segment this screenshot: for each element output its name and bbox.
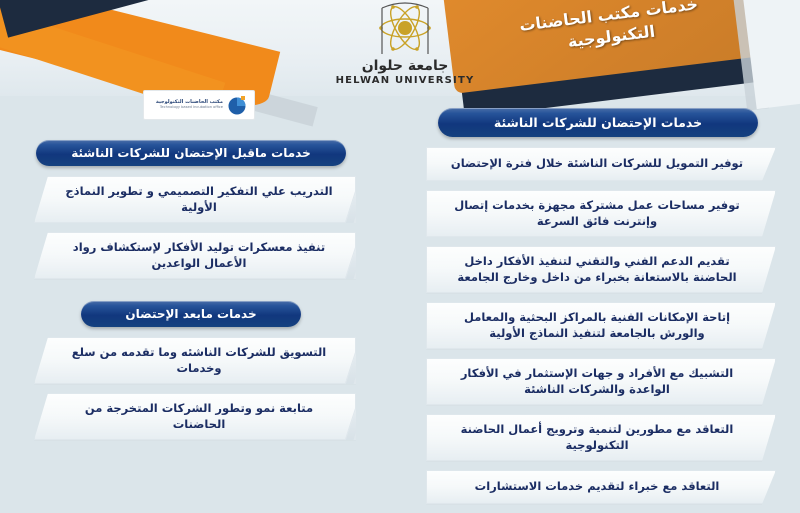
incubation-office-logo: مكتب الحاضنات التكنولوجية Technology bas…	[143, 90, 255, 120]
service-card[interactable]: تنفيذ معسكرات توليد الأفكار لإستكشاف روا…	[34, 232, 356, 279]
service-card[interactable]: التسويق للشركات الناشئه وما تقدمه من سلع…	[34, 337, 356, 384]
right-column: خدمات الإحتضان للشركات الناشئة توفير الت…	[420, 108, 776, 513]
service-card[interactable]: التعاقد مع خبراء لتقديم خدمات الاستشارات	[426, 470, 776, 504]
section-header-post-incubation[interactable]: خدمات مابعد الإحتضان	[81, 301, 301, 327]
incubation-office-logo-text: مكتب الحاضنات التكنولوجية Technology bas…	[149, 100, 223, 109]
university-name-en: HELWAN UNIVERSITY	[330, 75, 480, 86]
service-card[interactable]: متابعة نمو وتطور الشركات المتخرجة من الح…	[34, 393, 356, 440]
university-name-ar: جامعة حلوان	[330, 58, 480, 74]
column-spacer	[26, 288, 356, 301]
left-column: خدمات ماقبل الإحتضان للشركات الناشئة الت…	[26, 140, 356, 449]
helwan-university-logo: جامعة حلوان HELWAN UNIVERSITY	[330, 2, 480, 94]
poster-canvas: خدمات مكتب الحاضنات التكنولوجية جامعة حل…	[0, 0, 800, 450]
incubation-office-name-en: Technology based incubation office	[149, 106, 223, 110]
service-card[interactable]: التدريب علي التفكير التصميمي و تطوير الن…	[34, 176, 356, 223]
service-card[interactable]: تقديم الدعم الفني والتقني لتنفيذ الأفكار…	[426, 246, 776, 293]
service-card[interactable]: التعاقد مع مطورين لتنمية وترويج أعمال ال…	[426, 414, 776, 461]
atom-icon	[365, 2, 445, 60]
section-header-pre-incubation[interactable]: خدمات ماقبل الإحتضان للشركات الناشئة	[36, 140, 346, 166]
service-card[interactable]: توفير التمويل للشركات الناشئة خلال فترة …	[426, 147, 776, 181]
service-card[interactable]: توفير مساحات عمل مشتركة مجهزة بخدمات إتص…	[426, 190, 776, 237]
service-card[interactable]: التشبيك مع الأفراد و جهات الإستثمار في ا…	[426, 358, 776, 405]
service-card[interactable]: إتاحة الإمكانات الفنية بالمراكز البحثية …	[426, 302, 776, 349]
section-header-incubation[interactable]: خدمات الإحتضان للشركات الناشئة	[438, 108, 758, 137]
incubator-mark-icon	[227, 94, 249, 116]
